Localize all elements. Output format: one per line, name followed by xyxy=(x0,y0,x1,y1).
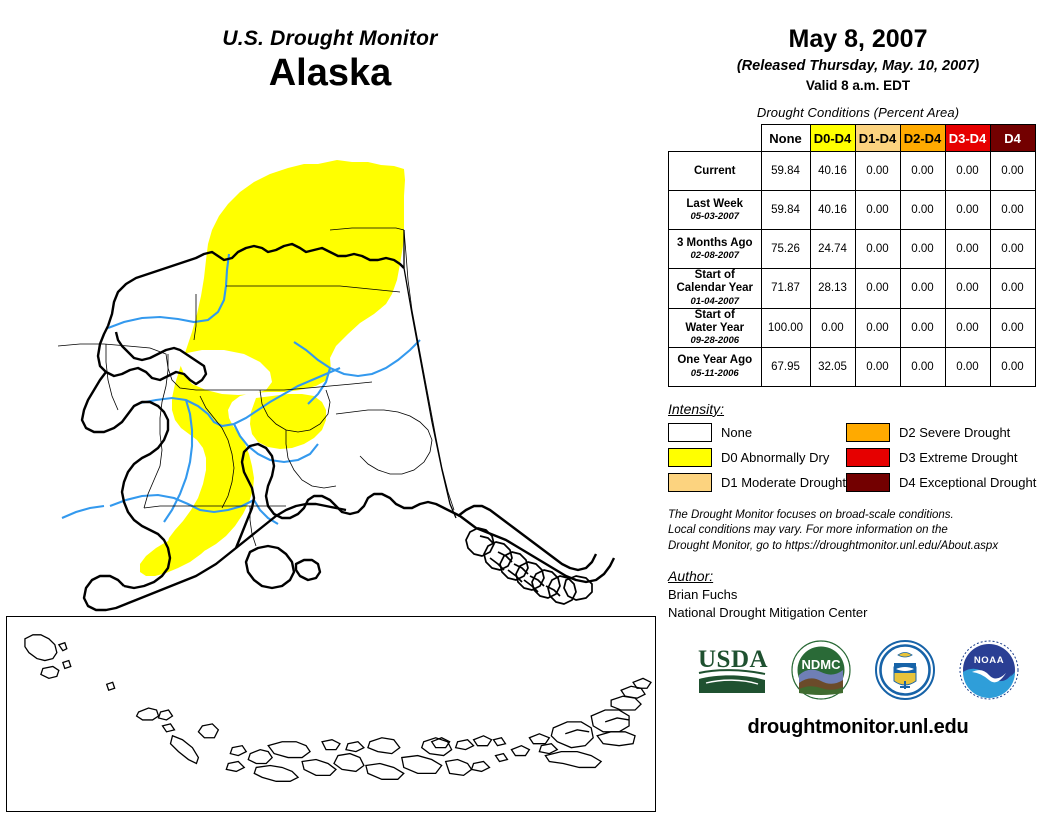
website-url[interactable]: droughtmonitor.unl.edu xyxy=(660,716,1056,739)
table-cell-d0-d4: 40.16 xyxy=(810,191,855,230)
legend-item-d1: D1 Moderate Drought xyxy=(668,473,846,492)
table-cell-d0-d4: 32.05 xyxy=(810,347,855,386)
table-cell-d1-d4: 0.00 xyxy=(855,191,900,230)
table-cell-d1-d4: 0.00 xyxy=(855,152,900,191)
legend-label: D0 Abnormally Dry xyxy=(721,450,829,465)
table-cell-d0-d4: 24.74 xyxy=(810,230,855,269)
legend-swatch xyxy=(846,423,890,442)
svg-text:USDA: USDA xyxy=(698,646,768,673)
author-label: Author: xyxy=(668,568,1056,584)
table-col-header-d2-d4: D2-D4 xyxy=(900,125,945,152)
table-row: Current59.8440.160.000.000.000.00 xyxy=(669,152,1036,191)
table-cell-none: 75.26 xyxy=(761,230,810,269)
legend-item-d2: D2 Severe Drought xyxy=(846,423,1056,442)
alaska-map-svg xyxy=(0,118,660,618)
legend-swatch xyxy=(668,448,712,467)
table-row-date: 09-28-2006 xyxy=(669,336,761,347)
table-cell-d3-d4: 0.00 xyxy=(945,191,990,230)
usda-logo[interactable]: USDA xyxy=(696,643,768,702)
table-cell-d2-d4: 0.00 xyxy=(900,308,945,347)
legend-label: D1 Moderate Drought xyxy=(721,475,846,490)
release-date: (Released Thursday, May. 10, 2007) xyxy=(660,58,1056,75)
table-row-label: Last Week05-03-2007 xyxy=(669,191,762,230)
table-cell-d3-d4: 0.00 xyxy=(945,152,990,191)
legend-swatch xyxy=(846,448,890,467)
drought-conditions-table: NoneD0-D4D1-D4D2-D4D3-D4D4 Current59.844… xyxy=(668,124,1036,387)
table-cell-d4: 0.00 xyxy=(990,191,1035,230)
canada-border xyxy=(404,230,456,518)
intensity-legend: Intensity: NoneD2 Severe DroughtD0 Abnor… xyxy=(660,401,1056,492)
table-col-header-d3-d4: D3-D4 xyxy=(945,125,990,152)
legend-item-none: None xyxy=(668,423,846,442)
table-row-date: 01-04-2007 xyxy=(669,297,761,308)
author-block: Author: Brian Fuchs National Drought Mit… xyxy=(660,568,1056,620)
table-row: Last Week05-03-200759.8440.160.000.000.0… xyxy=(669,191,1036,230)
table-col-header-none: None xyxy=(761,125,810,152)
table-cell-none: 59.84 xyxy=(761,152,810,191)
page-title: U.S. Drought Monitor xyxy=(0,28,660,50)
table-cell-d1-d4: 0.00 xyxy=(855,230,900,269)
table-row-label: One Year Ago05-11-2006 xyxy=(669,347,762,386)
disclaimer-line-3: Drought Monitor, go to https://droughtmo… xyxy=(668,539,1056,555)
intensity-legend-grid: NoneD2 Severe DroughtD0 Abnormally DryD3… xyxy=(668,423,1056,492)
table-body: Current59.8440.160.000.000.000.00Last We… xyxy=(669,152,1036,387)
table-row-label: Start ofWater Year09-28-2006 xyxy=(669,308,762,347)
legend-swatch xyxy=(668,473,712,492)
svg-text:NDMC: NDMC xyxy=(802,657,842,672)
region-title: Alaska xyxy=(0,52,660,96)
table-cell-d2-d4: 0.00 xyxy=(900,230,945,269)
author-affiliation: National Drought Mitigation Center xyxy=(668,604,1056,621)
legend-item-d3: D3 Extreme Drought xyxy=(846,448,1056,467)
table-cell-d2-d4: 0.00 xyxy=(900,269,945,308)
table-col-header-d1-d4: D1-D4 xyxy=(855,125,900,152)
table-cell-d4: 0.00 xyxy=(990,308,1035,347)
legend-swatch xyxy=(846,473,890,492)
table-cell-d4: 0.00 xyxy=(990,269,1035,308)
table-cell-d4: 0.00 xyxy=(990,230,1035,269)
table-caption: Drought Conditions (Percent Area) xyxy=(660,105,1056,120)
date-block: May 8, 2007 (Released Thursday, May. 10,… xyxy=(660,0,1056,93)
table-cell-d1-d4: 0.00 xyxy=(855,269,900,308)
legend-label: None xyxy=(721,425,752,440)
table-cell-d0-d4: 28.13 xyxy=(810,269,855,308)
table-cell-none: 59.84 xyxy=(761,191,810,230)
table-row-label: Start ofCalendar Year01-04-2007 xyxy=(669,269,762,308)
logo-row: USDA NDMC xyxy=(660,639,1056,706)
table-row-date: 05-11-2006 xyxy=(669,369,761,380)
table-cell-none: 67.95 xyxy=(761,347,810,386)
alaska-map[interactable] xyxy=(0,118,660,618)
table-cell-d4: 0.00 xyxy=(990,152,1035,191)
table-cell-none: 100.00 xyxy=(761,308,810,347)
table-cell-d1-d4: 0.00 xyxy=(855,308,900,347)
usdc-seal-logo[interactable] xyxy=(874,639,936,706)
table-row: 3 Months Ago02-08-200775.2624.740.000.00… xyxy=(669,230,1036,269)
table-cell-d1-d4: 0.00 xyxy=(855,347,900,386)
valid-time: Valid 8 a.m. EDT xyxy=(660,78,1056,93)
legend-item-d4: D4 Exceptional Drought xyxy=(846,473,1056,492)
noaa-logo[interactable]: NOAA xyxy=(958,639,1020,706)
table-cell-none: 71.87 xyxy=(761,269,810,308)
table-row: Start ofCalendar Year01-04-200771.8728.1… xyxy=(669,269,1036,308)
table-cell-d3-d4: 0.00 xyxy=(945,347,990,386)
table-cell-d0-d4: 40.16 xyxy=(810,152,855,191)
legend-label: D4 Exceptional Drought xyxy=(899,475,1036,490)
map-panel: U.S. Drought Monitor Alaska xyxy=(0,0,660,816)
legend-label: D2 Severe Drought xyxy=(899,425,1010,440)
table-row-date: 05-03-2007 xyxy=(669,212,761,223)
disclaimer-text: The Drought Monitor focuses on broad-sca… xyxy=(660,508,1056,555)
table-cell-d2-d4: 0.00 xyxy=(900,191,945,230)
table-cell-d3-d4: 0.00 xyxy=(945,308,990,347)
table-row: One Year Ago05-11-200667.9532.050.000.00… xyxy=(669,347,1036,386)
svg-text:NOAA: NOAA xyxy=(974,655,1004,666)
table-cell-d2-d4: 0.00 xyxy=(900,347,945,386)
table-cell-d0-d4: 0.00 xyxy=(810,308,855,347)
intensity-legend-title: Intensity: xyxy=(668,401,1056,417)
table-cell-d3-d4: 0.00 xyxy=(945,230,990,269)
table-corner-cell xyxy=(669,125,762,152)
author-name: Brian Fuchs xyxy=(668,586,1056,603)
drought-conditions-table-wrap: NoneD0-D4D1-D4D2-D4D3-D4D4 Current59.844… xyxy=(660,124,1056,387)
table-cell-d3-d4: 0.00 xyxy=(945,269,990,308)
table-row: Start ofWater Year09-28-2006100.000.000.… xyxy=(669,308,1036,347)
aleutian-inset-svg xyxy=(7,617,655,811)
table-row-label: Current xyxy=(669,152,762,191)
table-cell-d2-d4: 0.00 xyxy=(900,152,945,191)
map-date: May 8, 2007 xyxy=(660,26,1056,54)
table-header-row: NoneD0-D4D1-D4D2-D4D3-D4D4 xyxy=(669,125,1036,152)
table-col-header-d4: D4 xyxy=(990,125,1035,152)
disclaimer-line-1: The Drought Monitor focuses on broad-sca… xyxy=(668,508,1056,524)
ndmc-logo[interactable]: NDMC xyxy=(790,639,852,706)
title-block: U.S. Drought Monitor Alaska xyxy=(0,28,660,96)
legend-label: D3 Extreme Drought xyxy=(899,450,1018,465)
table-row-label: 3 Months Ago02-08-2007 xyxy=(669,230,762,269)
table-cell-d4: 0.00 xyxy=(990,347,1035,386)
legend-swatch xyxy=(668,423,712,442)
table-row-date: 02-08-2007 xyxy=(669,251,761,262)
aleutian-islands-inset[interactable] xyxy=(6,616,656,812)
disclaimer-line-2: Local conditions may vary. For more info… xyxy=(668,523,1056,539)
aleutian-islands xyxy=(25,635,651,781)
info-panel: May 8, 2007 (Released Thursday, May. 10,… xyxy=(660,0,1056,816)
legend-item-d0: D0 Abnormally Dry xyxy=(668,448,846,467)
table-col-header-d0-d4: D0-D4 xyxy=(810,125,855,152)
